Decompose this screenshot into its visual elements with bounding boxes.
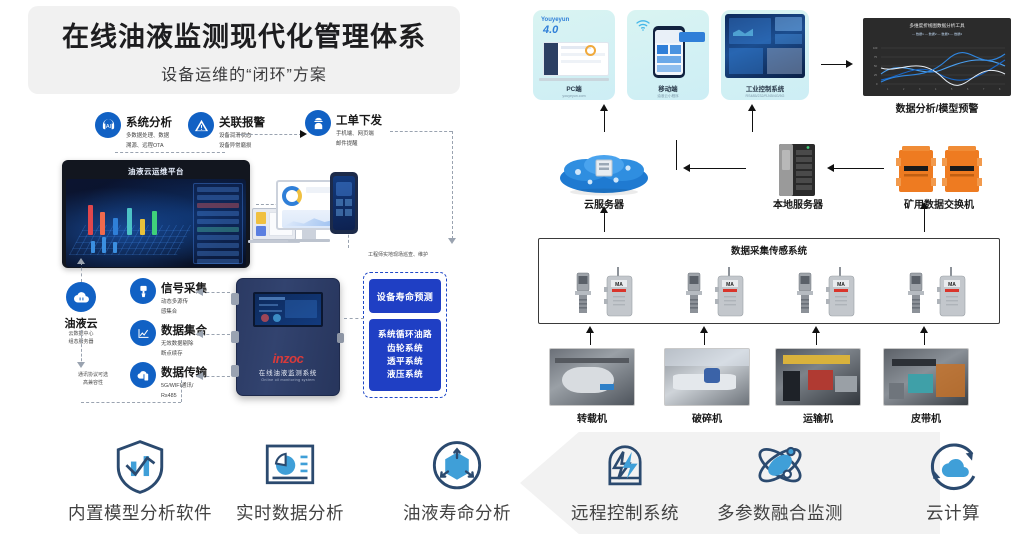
pie-chart-icon: [215, 436, 365, 498]
cloud-server-graphic[interactable]: [556, 148, 652, 196]
cloud-compute-icon: [878, 436, 1027, 498]
prediction-box: 设备寿命预测 系统循环油路 齿轮系统 透平系统 液压系统: [363, 272, 447, 398]
connector-dash: [81, 330, 82, 366]
equipment-item-0[interactable]: 转载机: [549, 348, 635, 425]
client-card-mobile[interactable]: 移动端 油液云小程序: [627, 10, 709, 100]
feature-multiparam-fusion-monitoring[interactable]: 多参数融合监测: [705, 436, 855, 525]
chart-caption: 数据分析/模型预警: [863, 100, 1011, 115]
acq-desc-2: Rs485: [161, 393, 207, 401]
warning-triangle-icon: [188, 112, 214, 138]
svg-text:8: 8: [999, 88, 1001, 91]
cloud-upload-icon: [130, 362, 156, 388]
callout-title: 工单下发: [336, 115, 382, 127]
connector-dash: [240, 134, 302, 135]
flow-line: [924, 333, 925, 345]
svg-text:5: 5: [951, 88, 953, 91]
equipment-item-2[interactable]: 运输机: [775, 348, 861, 425]
prediction-systems[interactable]: 系统循环油路 齿轮系统 透平系统 液压系统: [369, 319, 441, 391]
callout-title: 系统分析: [126, 117, 172, 129]
svg-text:4: 4: [935, 88, 937, 91]
feature-realtime-data-analysis[interactable]: 实时数据分析: [215, 436, 365, 525]
feature-label: 远程控制系统: [550, 500, 700, 525]
feature-label: 实时数据分析: [215, 500, 365, 525]
svg-text:1: 1: [887, 88, 889, 91]
svg-text:6: 6: [967, 88, 969, 91]
client-caption: 移动端: [627, 84, 709, 93]
callout-linked-alarm[interactable]: 关联报警 设备润滑状态 设备异常磨损: [188, 112, 265, 151]
sensor-unit[interactable]: MA: [905, 267, 967, 319]
equipment-photo: [883, 348, 969, 406]
atom-fusion-icon: [705, 436, 855, 498]
connector-dash: [81, 262, 82, 282]
svg-text:MA: MA: [837, 282, 845, 288]
acq-data-aggregation[interactable]: 数据集合 无效数据剔除 断点续存: [130, 320, 207, 359]
callout-desc-2: 溯源、远程OTA: [126, 143, 172, 151]
client-card-pc[interactable]: Youyeyun 4.0 PC端 youyeyun.com: [533, 10, 615, 100]
callout-title: 关联报警: [219, 117, 265, 129]
device-logo: inzoc: [237, 351, 339, 366]
connector-dash: [390, 131, 452, 132]
feature-oil-lifecycle-analysis[interactable]: 油液寿命分析: [382, 436, 532, 525]
sensor-units: MA MA: [539, 257, 999, 319]
device-name-cn: 在线油液监测系统: [237, 367, 339, 377]
system-item: 齿轮系统: [387, 342, 423, 355]
client-device-cluster: [252, 170, 362, 260]
flow-line: [604, 108, 605, 132]
sensor-system-title: 数据采集传感系统: [539, 239, 999, 257]
svg-text:75: 75: [874, 55, 877, 59]
flow-line: [752, 108, 753, 132]
equipment-item-3[interactable]: 皮带机: [883, 348, 969, 425]
engineer-icon: [305, 110, 331, 136]
oil-monitoring-device[interactable]: inzoc 在线油液监测系统 Online oil monitoring sys…: [236, 278, 340, 396]
monitor-title: 油液云运维平台: [66, 166, 246, 177]
node-label-mine-switch: 矿用数据交换机: [880, 196, 998, 211]
node-label-local-server: 本地服务器: [760, 196, 836, 211]
connector-dash: [344, 318, 364, 319]
svg-text:2: 2: [903, 88, 905, 91]
flow-arrow: [812, 326, 820, 333]
client-sub: youyeyun.com: [533, 94, 615, 98]
cube-lifecycle-icon: [382, 436, 532, 498]
phone-mock: [330, 172, 358, 234]
protocol-note: 通讯协议可选 高兼容性: [78, 372, 108, 387]
protocol-note-2: 高兼容性: [78, 380, 108, 388]
pc-screen-mock: [543, 42, 609, 76]
flow-arrow: [748, 104, 756, 111]
remote-power-icon: [550, 436, 700, 498]
acq-desc-1: 无效数据剔除: [161, 341, 207, 349]
protocol-note-1: 通讯协议可选: [78, 372, 108, 380]
connector-arrow: [196, 330, 203, 338]
equipment-label: 运输机: [775, 410, 861, 425]
connector-arrow: [196, 372, 203, 380]
page-subtitle: 设备运维的“闭环”方案: [161, 61, 327, 85]
callout-system-analysis[interactable]: AI 系统分析 多数据处理、数据 溯源、远程OTA: [95, 112, 172, 151]
feature-label: 油液寿命分析: [382, 500, 532, 525]
acq-data-transmission[interactable]: 数据传输 5G/WIFI通讯/ Rs485: [130, 362, 207, 401]
flow-arrow: [600, 104, 608, 111]
svg-text:50: 50: [874, 64, 877, 68]
flow-line: [590, 333, 591, 345]
flow-arrow: [586, 326, 594, 333]
system-item: 液压系统: [387, 368, 423, 381]
system-item: 透平系统: [387, 355, 423, 368]
shield-analysis-icon: [65, 436, 215, 498]
tooltip-bubble: [679, 32, 705, 42]
sensor-system-box: 数据采集传感系统 MA: [538, 238, 1000, 324]
title-card: 在线油液监测现代化管理体系 设备运维的“闭环”方案: [28, 6, 460, 94]
svg-text:AI: AI: [105, 124, 111, 130]
connector-dash: [452, 131, 453, 239]
connector-arrow: [300, 130, 307, 138]
client-caption: 工业控制系统: [721, 84, 809, 93]
acq-desc-2: 断点续存: [161, 351, 207, 359]
analysis-chart-panel[interactable]: 多维度折线图数据分析工具 — 数据1 — 数据2 — 数据3 — 数据4 100…: [863, 18, 1011, 96]
connector-dash: [81, 402, 181, 403]
equipment-photo: [664, 348, 750, 406]
wifi-icon: [635, 18, 651, 37]
system-item: 系统循环油路: [378, 328, 432, 341]
local-server-graphic[interactable]: [775, 142, 819, 200]
sensor-unit[interactable]: MA: [683, 267, 745, 319]
engineer-note: 工程师实地现场巡查、维护: [368, 252, 428, 260]
flow-arrow: [700, 326, 708, 333]
arrow-line: [821, 64, 849, 65]
poster-root: 在线油液监测现代化管理体系 设备运维的“闭环”方案 AI 系统分析 多数据处理、…: [0, 0, 1027, 534]
brand-label: Youyeyun: [541, 17, 569, 23]
equipment-item-1[interactable]: 破碎机: [664, 348, 750, 425]
acq-desc-1: 5G/WIFI通讯/: [161, 383, 207, 391]
equipment-label: 皮带机: [883, 410, 969, 425]
svg-text:3: 3: [919, 88, 921, 91]
mine-switch-graphic[interactable]: [895, 144, 983, 198]
flow-arrow: [920, 202, 928, 209]
callout-desc-2: 邮件提醒: [336, 141, 382, 149]
cloud-node-title: 油液云: [52, 315, 110, 331]
flow-line: [832, 168, 884, 169]
flow-line: [924, 206, 925, 232]
acq-desc-2: 感集合: [161, 309, 207, 317]
client-sub: 油液云小程序: [627, 94, 709, 99]
feature-cloud-computing[interactable]: 云计算: [878, 436, 1027, 525]
monitor-screen: [66, 179, 246, 267]
connector-arrow: [77, 362, 85, 368]
feature-label: 云计算: [878, 500, 1027, 525]
svg-text:MA: MA: [948, 282, 956, 288]
flow-line: [604, 210, 605, 232]
callout-desc-1: 手机端、网页端: [336, 131, 382, 139]
platform-monitor: 油液云运维平台: [62, 160, 250, 268]
acq-desc-1: 动态多源传: [161, 299, 207, 307]
flow-arrow: [920, 326, 928, 333]
flow-arrow: [683, 164, 690, 172]
equipment-label: 转载机: [549, 410, 635, 425]
feature-label: 内置模型分析软件: [65, 500, 215, 525]
chart-title: 多维度折线图数据分析工具: [863, 18, 1011, 29]
svg-text:7: 7: [983, 88, 985, 91]
chart-legend: — 数据1 — 数据2 — 数据3 — 数据4: [863, 31, 1011, 36]
svg-text:0: 0: [876, 82, 878, 86]
flow-line: [704, 333, 705, 345]
connector-arrow: [196, 288, 203, 296]
flow-line: [676, 140, 677, 170]
svg-text:100: 100: [873, 46, 878, 50]
equipment-photo: [775, 348, 861, 406]
client-sub: RS485/232/RJ45/4G/5G: [721, 94, 809, 98]
connector-arrow: [448, 238, 456, 244]
sensor-unit[interactable]: MA: [572, 267, 634, 319]
sensor-unit[interactable]: MA: [794, 267, 856, 319]
version-label: 4.0: [543, 24, 558, 36]
flow-line: [688, 168, 746, 169]
svg-text:MA: MA: [726, 282, 734, 288]
device-screen: [253, 292, 322, 327]
equipment-label: 破碎机: [664, 410, 750, 425]
industrial-screen-mock: [725, 14, 805, 78]
cloud-sync-icon: [66, 282, 96, 312]
arrow-head: [846, 60, 853, 68]
feature-strip: 内置模型分析软件 实时数据分析: [0, 432, 1027, 534]
ai-icon: AI: [95, 112, 121, 138]
feature-builtin-model-software[interactable]: 内置模型分析软件: [65, 436, 215, 525]
svg-text:MA: MA: [615, 282, 623, 288]
sensor-icon: [130, 278, 156, 304]
feature-label: 多参数融合监测: [705, 500, 855, 525]
chart-line-icon: [130, 320, 156, 346]
callout-work-order[interactable]: 工单下发 手机端、网页端 邮件提醒: [305, 110, 382, 149]
flow-line: [816, 333, 817, 345]
callout-desc-2: 设备异常磨损: [219, 143, 265, 151]
client-caption: PC端: [533, 84, 615, 93]
feature-remote-control-system[interactable]: 远程控制系统: [550, 436, 700, 525]
flow-arrow: [827, 164, 834, 172]
chart-plot: 10075 50250 123 456 78: [863, 44, 1011, 92]
device-name-en: Online oil monitoring system: [237, 378, 339, 382]
svg-text:25: 25: [874, 73, 877, 77]
client-card-industrial[interactable]: 工业控制系统 RS485/232/RJ45/4G/5G: [721, 10, 809, 100]
connector-dash: [115, 152, 225, 153]
flow-arrow: [600, 206, 608, 213]
page-title: 在线油液监测现代化管理体系: [62, 15, 426, 54]
monitor-side-panel: [193, 183, 243, 264]
equipment-photo: [549, 348, 635, 406]
callout-desc-1: 多数据处理、数据: [126, 133, 172, 141]
acq-signal-collection[interactable]: 信号采集 动态多源传 感集合: [130, 278, 207, 317]
prediction-header[interactable]: 设备寿命预测: [369, 279, 441, 313]
connector-arrow: [77, 258, 85, 264]
